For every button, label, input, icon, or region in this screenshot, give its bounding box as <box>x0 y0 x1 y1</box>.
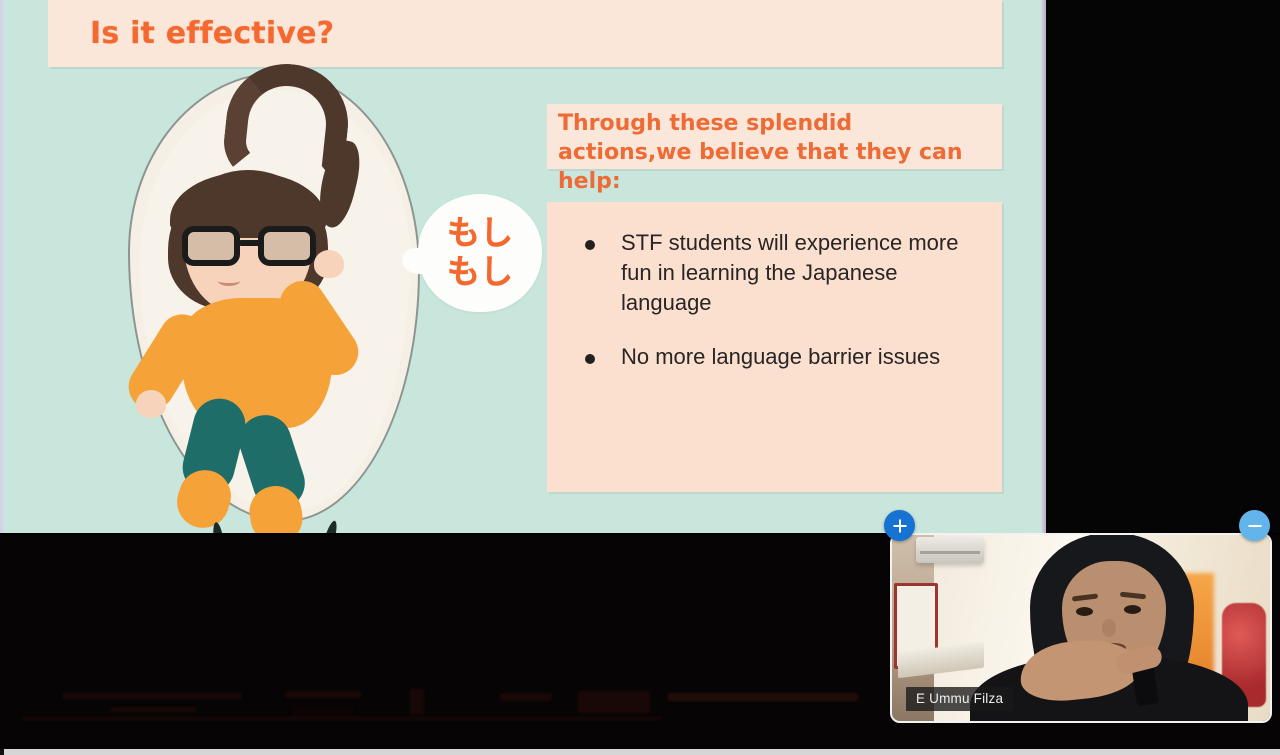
bottom-edge-corner <box>0 749 4 755</box>
ghost-element <box>285 691 361 698</box>
zoom-in-button[interactable] <box>884 510 915 541</box>
dimmed-toolbar-ghost <box>0 683 890 723</box>
glasses-lens-right <box>258 226 316 266</box>
glasses-bridge <box>238 240 262 246</box>
slide-bullets-panel: STF students will experience more fun in… <box>547 202 1002 492</box>
eye-left <box>1076 607 1093 616</box>
speech-bubble-line-1: もし <box>447 214 513 253</box>
slide-heading: Through these splendid actions,we believ… <box>558 109 992 196</box>
participant-figure <box>984 537 1234 723</box>
ghost-element <box>410 689 424 715</box>
video-air-conditioner <box>916 537 984 563</box>
hand-left-icon <box>136 390 166 418</box>
ghost-element <box>500 693 552 701</box>
participant-name-label: E Ummu Filza <box>906 687 1013 711</box>
ghost-element <box>110 707 196 712</box>
right-gutter <box>1046 0 1280 533</box>
nose <box>1102 619 1116 637</box>
speech-bubble: もし もし <box>418 194 542 312</box>
speech-bubble-line-2: もし <box>447 253 513 292</box>
slide-title: Is it effective? <box>90 16 334 51</box>
glasses-lens-left <box>182 226 240 266</box>
screen-share-stage: Is it effective? <box>0 0 1280 755</box>
grass-blade-icon <box>211 522 227 533</box>
ghost-element <box>62 693 242 699</box>
ghost-element <box>578 691 650 713</box>
smile-icon <box>218 276 240 286</box>
ghost-element <box>668 693 858 701</box>
slide-heading-panel: Through these splendid actions,we believ… <box>547 104 1002 169</box>
zoom-out-button[interactable] <box>1239 510 1270 541</box>
grass-blade-icon <box>318 519 339 533</box>
presentation-slide[interactable]: Is it effective? <box>0 0 1046 533</box>
list-item: STF students will experience more fun in… <box>577 228 977 318</box>
ghost-element <box>22 717 662 720</box>
participant-video-tile[interactable]: E Ummu Filza <box>890 533 1272 723</box>
plus-icon <box>892 518 908 534</box>
hand-right-icon <box>314 250 344 278</box>
glasses-icon <box>182 226 316 266</box>
list-item: No more language barrier issues <box>577 342 977 372</box>
bottom-edge-strip <box>0 749 1280 755</box>
minus-icon <box>1247 518 1263 534</box>
girl-illustration <box>110 62 440 532</box>
slide-left-edge <box>0 0 6 533</box>
eye-right <box>1124 605 1141 614</box>
slide-bullet-list: STF students will experience more fun in… <box>577 228 977 397</box>
